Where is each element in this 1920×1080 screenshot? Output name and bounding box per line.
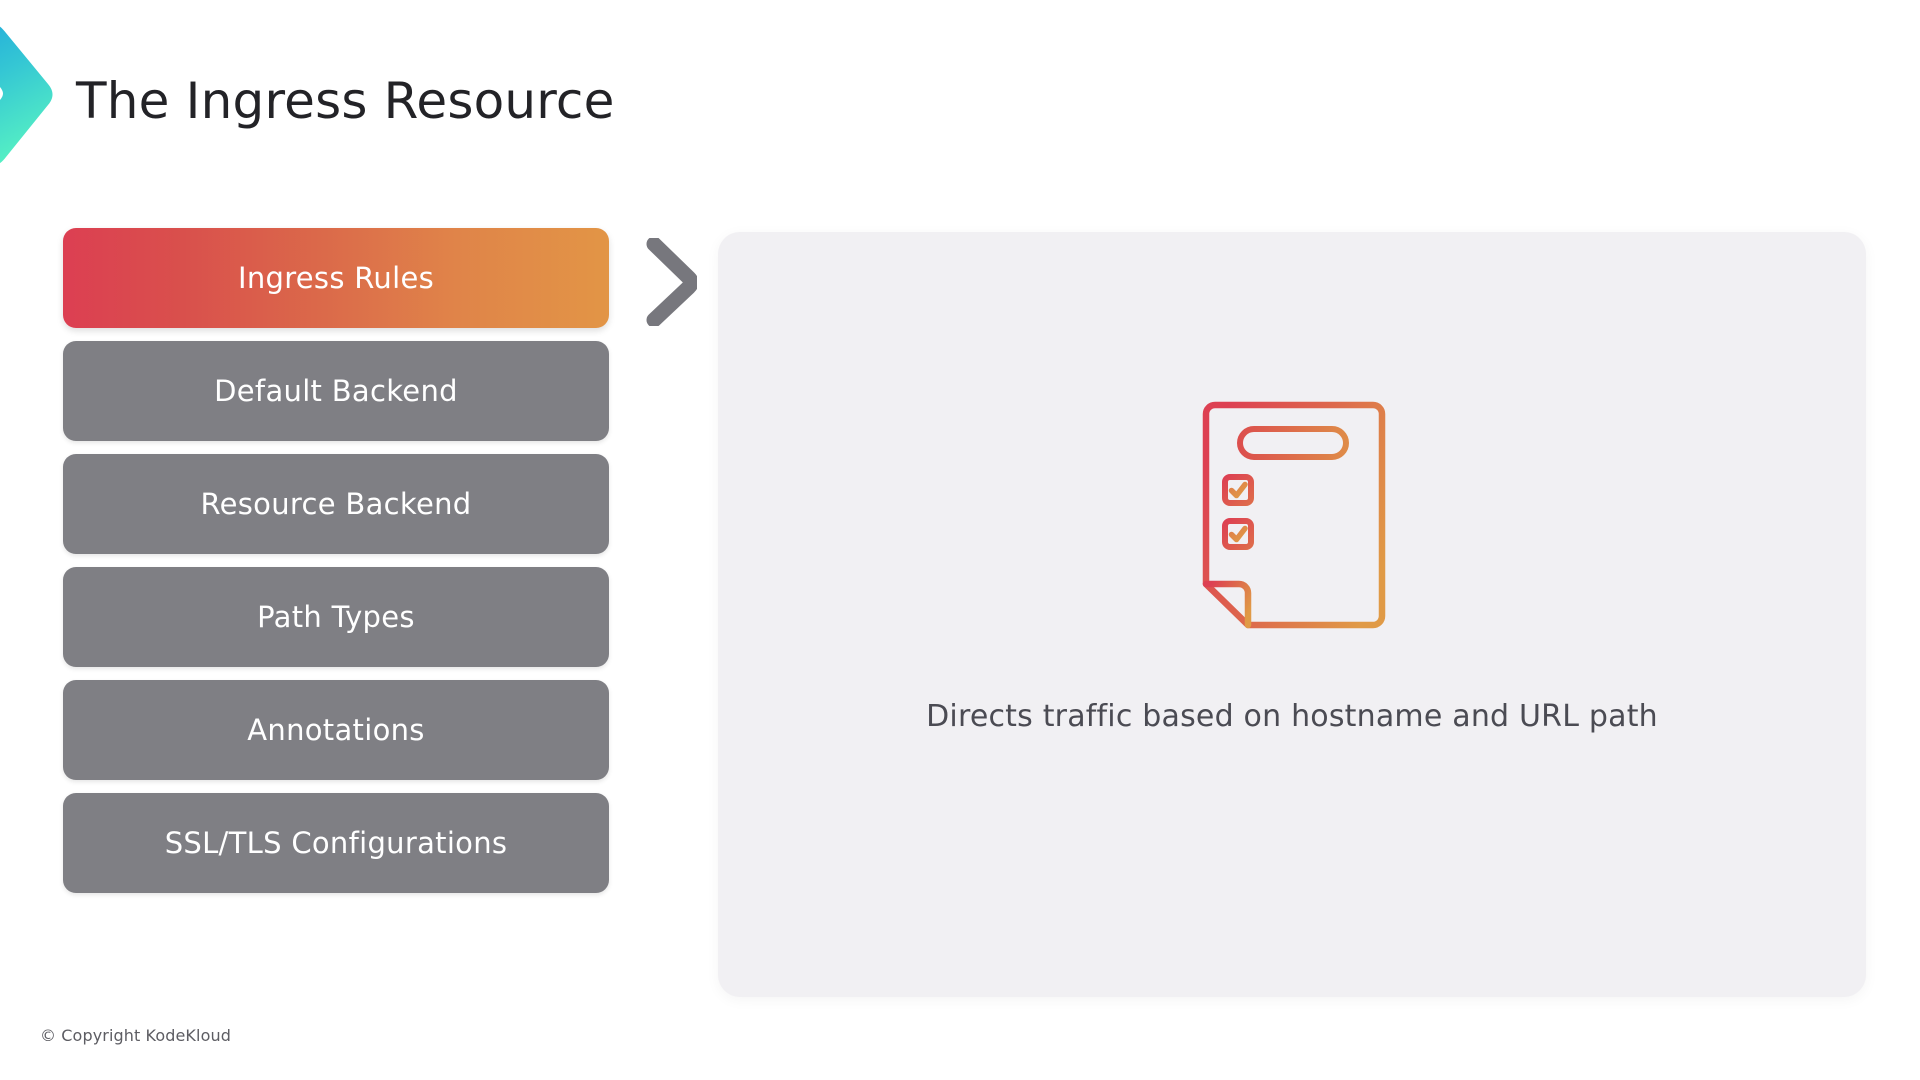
- nav-item-label: Resource Backend: [200, 487, 471, 521]
- nav-item-label: Default Backend: [214, 374, 458, 408]
- checklist-document-icon: [1190, 400, 1395, 635]
- chevron-right-icon: [645, 238, 697, 326]
- nav-item-label: Annotations: [247, 713, 424, 747]
- footer-copyright: © Copyright KodeKloud: [40, 1026, 231, 1045]
- page-title: The Ingress Resource: [76, 72, 615, 130]
- nav-item-default-backend[interactable]: Default Backend: [63, 341, 609, 441]
- nav-item-label: Path Types: [257, 600, 415, 634]
- detail-panel: Directs traffic based on hostname and UR…: [718, 232, 1866, 997]
- nav-item-path-types[interactable]: Path Types: [63, 567, 609, 667]
- slide-root: The Ingress Resource Ingress Rules Defau…: [0, 0, 1920, 1080]
- nav-item-label: SSL/TLS Configurations: [165, 826, 508, 860]
- nav-item-annotations[interactable]: Annotations: [63, 680, 609, 780]
- chevron-right-logo-icon: [0, 18, 62, 168]
- nav-item-resource-backend[interactable]: Resource Backend: [63, 454, 609, 554]
- nav-item-label: Ingress Rules: [238, 261, 434, 295]
- nav-item-ingress-rules[interactable]: Ingress Rules: [63, 228, 609, 328]
- topic-nav-list: Ingress Rules Default Backend Resource B…: [63, 228, 609, 893]
- nav-item-ssl-tls-configurations[interactable]: SSL/TLS Configurations: [63, 793, 609, 893]
- panel-description: Directs traffic based on hostname and UR…: [926, 699, 1658, 734]
